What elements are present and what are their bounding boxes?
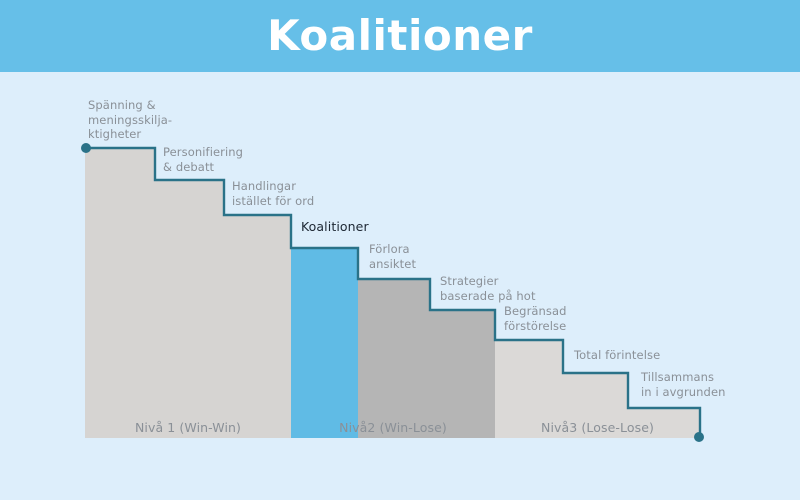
step-bar-step-2[interactable] — [155, 180, 224, 438]
step-bar-step-6[interactable] — [430, 310, 495, 438]
step-bars-group — [85, 148, 700, 438]
level-label-level-3: Nivå3 (Lose-Lose) — [495, 420, 700, 436]
step-label-step-9: Tillsammans in i avgrunden — [641, 370, 726, 399]
level-label-level-2: Nivå2 (Win-Lose) — [291, 420, 495, 436]
step-label-step-5: Förlora ansiktet — [369, 242, 416, 271]
step-label-step-6: Strategier baserade på hot — [440, 274, 536, 303]
step-label-step-3: Handlingar istället för ord — [232, 179, 314, 208]
step-bar-step-1[interactable] — [85, 148, 155, 438]
step-bar-step-4[interactable] — [291, 248, 358, 438]
step-label-step-8: Total förintelse — [574, 348, 660, 363]
step-label-step-7: Begränsad förstörelse — [504, 304, 567, 333]
step-label-step-2: Personifiering & debatt — [163, 145, 243, 174]
page-title: Koalitioner — [267, 15, 533, 57]
step-bar-step-3[interactable] — [224, 215, 291, 438]
staircase-chart: Spänning & meningsskilja- ktigheterPerso… — [0, 72, 800, 500]
level-label-level-1: Nivå 1 (Win-Win) — [85, 420, 291, 436]
step-label-step-1: Spänning & meningsskilja- ktigheter — [88, 98, 172, 142]
header-banner: Koalitioner — [0, 0, 800, 72]
start-dot-marker — [81, 143, 91, 153]
step-label-step-4: Koalitioner — [301, 220, 369, 235]
step-bar-step-5[interactable] — [358, 279, 430, 438]
